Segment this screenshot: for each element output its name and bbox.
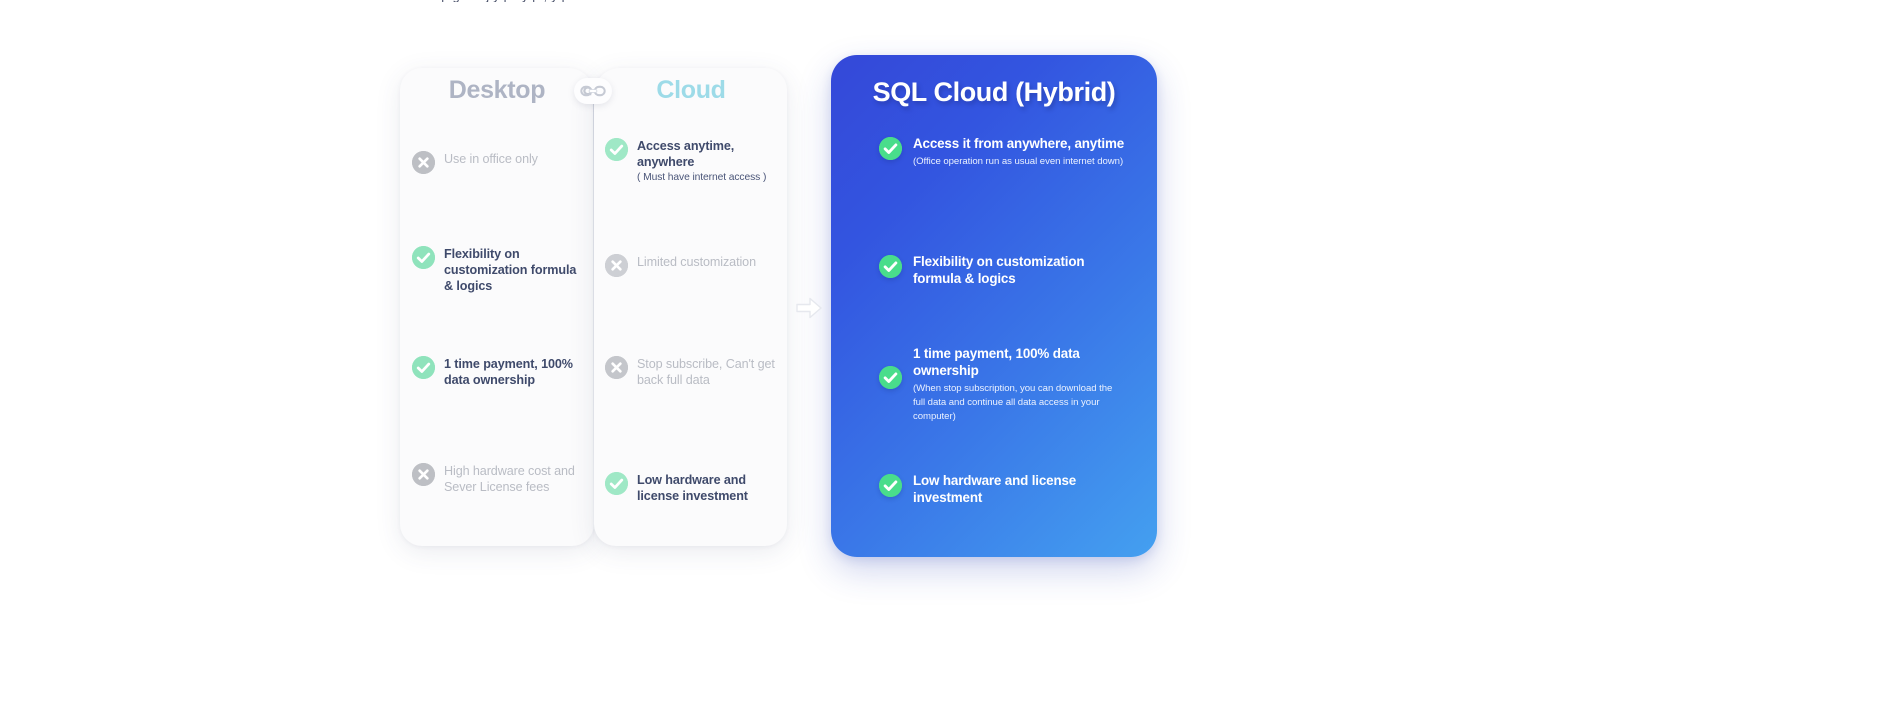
desktop-feature-row: High hardware cost and Sever License fee… bbox=[412, 462, 588, 495]
desktop-feature-text: High hardware cost and Sever License fee… bbox=[444, 462, 588, 495]
cross-icon bbox=[412, 151, 435, 174]
check-icon bbox=[605, 472, 628, 495]
cloud-feature-row: Low hardware and license investment bbox=[605, 471, 781, 504]
check-icon bbox=[412, 356, 435, 379]
feature-main: 1 time payment, 100% data ownership bbox=[444, 356, 588, 388]
desktop-feature-row: Flexibility on customization formula & l… bbox=[412, 245, 588, 294]
cross-icon bbox=[605, 356, 628, 379]
check-icon bbox=[879, 366, 902, 389]
desktop-feature-text: 1 time payment, 100% data ownership bbox=[444, 355, 588, 388]
sql-cloud-card-title: SQL Cloud (Hybrid) bbox=[831, 77, 1157, 108]
cloud-feature-text: Low hardware and license investment bbox=[637, 471, 781, 504]
feature-main: Access anytime, anywhere bbox=[637, 138, 781, 170]
link-chain-icon bbox=[574, 78, 612, 104]
cross-icon bbox=[605, 254, 628, 277]
sql-feature-row: Access it from anywhere, anytime (Office… bbox=[879, 135, 1127, 169]
sql-feature-row: 1 time payment, 100% data ownership (Whe… bbox=[879, 345, 1127, 423]
sql-cloud-hybrid-card: SQL Cloud (Hybrid) Access it from anywhe… bbox=[831, 55, 1157, 557]
comparison-infographic: u p g o e j y p l y p , y p Desktop Clou… bbox=[0, 0, 1904, 726]
feature-main: Use in office only bbox=[444, 151, 538, 167]
feature-main: Access it from anywhere, anytime bbox=[913, 135, 1124, 152]
feature-main: 1 time payment, 100% data ownership bbox=[913, 345, 1127, 379]
feature-main: Flexibility on customization formula & l… bbox=[444, 246, 588, 294]
cloud-feature-row: Limited customization bbox=[605, 253, 781, 277]
cloud-feature-row: Access anytime, anywhere ( Must have int… bbox=[605, 137, 781, 184]
cross-icon bbox=[412, 463, 435, 486]
sql-feature-text: Low hardware and license investment bbox=[913, 472, 1127, 506]
desktop-feature-text: Use in office only bbox=[444, 150, 538, 167]
check-icon bbox=[605, 138, 628, 161]
feature-main: Low hardware and license investment bbox=[913, 472, 1127, 506]
feature-sub: ( Must have internet access ) bbox=[637, 171, 781, 184]
feature-main: Limited customization bbox=[637, 254, 756, 270]
desktop-feature-row: 1 time payment, 100% data ownership bbox=[412, 355, 588, 388]
feature-sub: (When stop subscription, you can downloa… bbox=[913, 382, 1127, 423]
sql-feature-row: Low hardware and license investment bbox=[879, 472, 1127, 506]
sql-feature-text: Access it from anywhere, anytime (Office… bbox=[913, 135, 1124, 169]
sql-feature-row: Flexibility on customization formula & l… bbox=[879, 253, 1127, 287]
check-icon bbox=[412, 246, 435, 269]
cloud-feature-text: Stop subscribe, Can't get back full data bbox=[637, 355, 781, 388]
feature-main: Low hardware and license investment bbox=[637, 472, 781, 504]
feature-main: Flexibility on customization formula & l… bbox=[913, 253, 1127, 287]
sql-feature-text: Flexibility on customization formula & l… bbox=[913, 253, 1127, 287]
feature-main: Stop subscribe, Can't get back full data bbox=[637, 356, 781, 388]
card-divider bbox=[593, 102, 594, 542]
cloud-feature-text: Access anytime, anywhere ( Must have int… bbox=[637, 137, 781, 184]
cloud-feature-text: Limited customization bbox=[637, 253, 756, 270]
sql-feature-text: 1 time payment, 100% data ownership (Whe… bbox=[913, 345, 1127, 423]
cloud-feature-row: Stop subscribe, Can't get back full data bbox=[605, 355, 781, 388]
feature-main: High hardware cost and Sever License fee… bbox=[444, 463, 588, 495]
cloud-card-title: Cloud bbox=[594, 76, 788, 105]
feature-sub: (Office operation run as usual even inte… bbox=[913, 155, 1124, 169]
check-icon bbox=[879, 137, 902, 160]
desktop-feature-text: Flexibility on customization formula & l… bbox=[444, 245, 588, 294]
cutoff-heading-sliver: u p g o e j y p l y p , y p bbox=[430, 0, 1470, 2]
check-icon bbox=[879, 255, 902, 278]
arrow-right-icon bbox=[795, 295, 823, 321]
desktop-feature-row: Use in office only bbox=[412, 150, 588, 174]
desktop-card-title: Desktop bbox=[400, 76, 594, 105]
check-icon bbox=[879, 474, 902, 497]
